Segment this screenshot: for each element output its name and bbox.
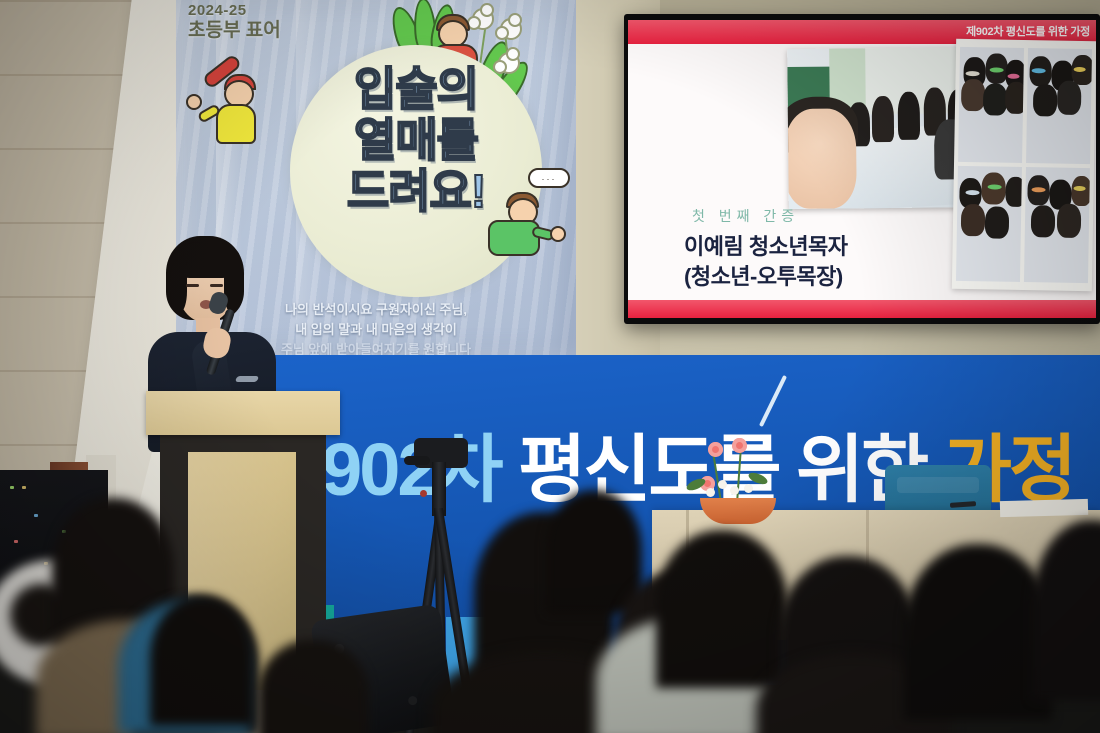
banner-section: 초등부 표어 [188,20,338,42]
audience-head-11 [258,640,368,733]
kid-yellow-body [216,104,256,144]
shirt-logo-icon [235,376,259,382]
papers-on-table [1000,499,1088,517]
speaker-eye-right [210,284,223,287]
audience-head-5 [546,490,642,614]
flower-head-b [732,438,747,453]
banner-year: 2024-25 [188,2,338,20]
tripod-pan-handle[interactable] [404,456,430,465]
flower-head-a [708,442,723,457]
slide-kicker: 첫 번째 간증 [692,206,799,226]
kid-green-body [488,220,540,256]
flower-2 [500,18,522,40]
banner-stroke-1 [759,375,787,427]
booth-frame-1 [958,47,1024,163]
conference-hall-photo: 2024-25 초등부 표어 ··· 입술의 열매를 드려요! [0,0,1100,733]
audience-head-9 [904,544,1052,720]
banner-heading: 2024-25 초등부 표어 [188,2,338,42]
slogan-line-3: 드려요! [296,168,536,215]
slogan-line-2: 열매를 [296,117,536,164]
slide-title-line-1: 이예림 청소년목자 [684,232,848,262]
speaker-hair-left [170,260,187,312]
slide-title: 이예림 청소년목자 (청소년-오투목장) [684,232,848,291]
ceiling-trim [660,0,1100,14]
cartoon-kid-yellow [198,66,278,162]
flower-white-a [718,480,727,489]
banner-slogan: 입술의 열매를 드려요! [296,66,536,219]
slogan-line-1: 입술의 [296,66,536,113]
flower-white-b [730,486,739,495]
podium-top [146,391,340,435]
audience-head-7 [656,530,788,688]
kid-green-hand [550,226,566,242]
slide-title-line-2: (청소년-오투목장) [684,262,848,292]
booth-frame-4 [1024,167,1090,283]
booth-frame-2 [1026,48,1092,164]
flower-white-c [744,484,753,493]
speaker-eye-left [186,284,199,287]
tripod-red-knob[interactable] [420,490,427,497]
flower-white-d [706,488,715,497]
slide-photo-booth [952,39,1096,291]
kid-yellow-hand [186,94,202,110]
slide-bottom-bar [628,300,1096,318]
slide-header-text: 제902차 평신도를 위한 가정 [966,23,1090,39]
presentation-display: 제902차 평신도를 위한 가정 [624,14,1100,324]
slide: 제902차 평신도를 위한 가정 [628,20,1096,318]
booth-frame-3 [956,166,1022,282]
audience-head-3 [150,596,254,726]
